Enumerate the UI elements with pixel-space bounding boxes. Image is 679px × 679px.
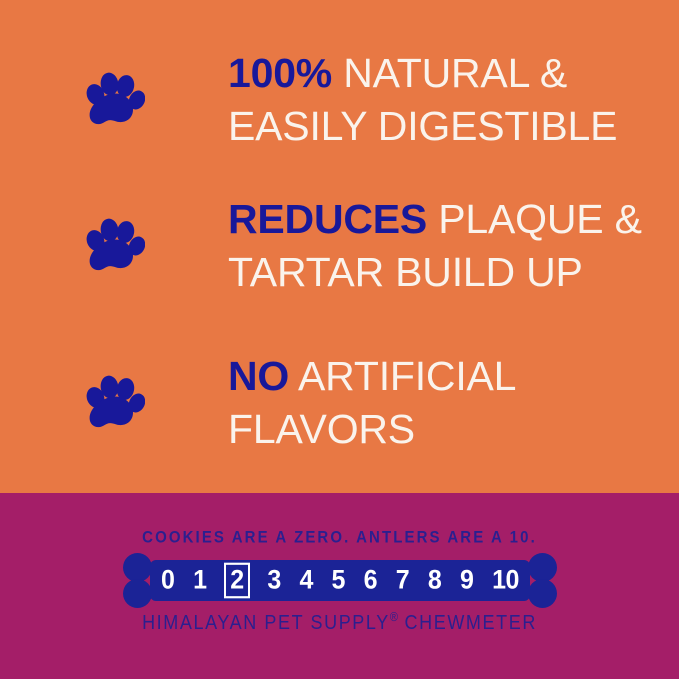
scale-value-5[interactable]: 5 (330, 566, 347, 595)
benefit-item-natural-digestible: 100% NATURAL & EASILY DIGESTIBLE (0, 42, 679, 157)
scale-value-10[interactable]: 10 (490, 566, 521, 595)
benefit-text: REDUCES PLAQUE & TARTAR BUILD UP (228, 193, 642, 298)
brand-suffix: CHEWMETER (398, 610, 537, 633)
scale-value-1[interactable]: 1 (191, 566, 208, 595)
benefit-highlight: NO (228, 353, 289, 399)
brand-name: HIMALAYAN PET SUPPLY (142, 610, 390, 633)
benefit-text: NO ARTIFICIAL FLAVORS (228, 350, 516, 455)
chewmeter-panel: COOKIES ARE A ZERO. ANTLERS ARE A 10. 0 … (0, 493, 679, 679)
scale-value-2-selected[interactable]: 2 (224, 563, 249, 599)
bone-bulb-right-bottom (528, 579, 557, 608)
scale-value-7[interactable]: 7 (394, 566, 411, 595)
scale-value-3[interactable]: 3 (265, 566, 282, 595)
benefit-highlight: 100% (228, 50, 332, 96)
paw-print-icon (0, 71, 228, 129)
scale-value-8[interactable]: 8 (426, 566, 443, 595)
benefit-highlight: REDUCES (228, 196, 427, 242)
chewmeter-bone-graphic: 0 1 2 3 4 5 6 7 8 9 10 (123, 553, 557, 608)
paw-print-icon (0, 374, 228, 432)
bone-bulb-left-bottom (123, 579, 152, 608)
paw-print-icon (0, 217, 228, 275)
scale-value-9[interactable]: 9 (458, 566, 475, 595)
chewmeter-scale: 0 1 2 3 4 5 6 7 8 9 10 (159, 560, 521, 601)
benefits-panel: 100% NATURAL & EASILY DIGESTIBLE REDUCES… (0, 0, 679, 493)
bone-bulb-left-top (123, 553, 152, 582)
scale-value-6[interactable]: 6 (362, 566, 379, 595)
chewmeter-brand-footer: HIMALAYAN PET SUPPLY® CHEWMETER (0, 610, 679, 634)
bone-bulb-right-top (528, 553, 557, 582)
product-feature-poster: 100% NATURAL & EASILY DIGESTIBLE REDUCES… (0, 0, 679, 679)
benefit-item-plaque-tartar: REDUCES PLAQUE & TARTAR BUILD UP (0, 188, 679, 303)
scale-value-0[interactable]: 0 (159, 566, 176, 595)
benefit-item-no-artificial-flavors: NO ARTIFICIAL FLAVORS (0, 345, 679, 460)
registered-trademark-icon: ® (390, 610, 398, 624)
benefit-text: 100% NATURAL & EASILY DIGESTIBLE (228, 47, 617, 152)
chewmeter-caption: COOKIES ARE A ZERO. ANTLERS ARE A 10. (0, 528, 679, 547)
scale-value-4[interactable]: 4 (297, 566, 314, 595)
